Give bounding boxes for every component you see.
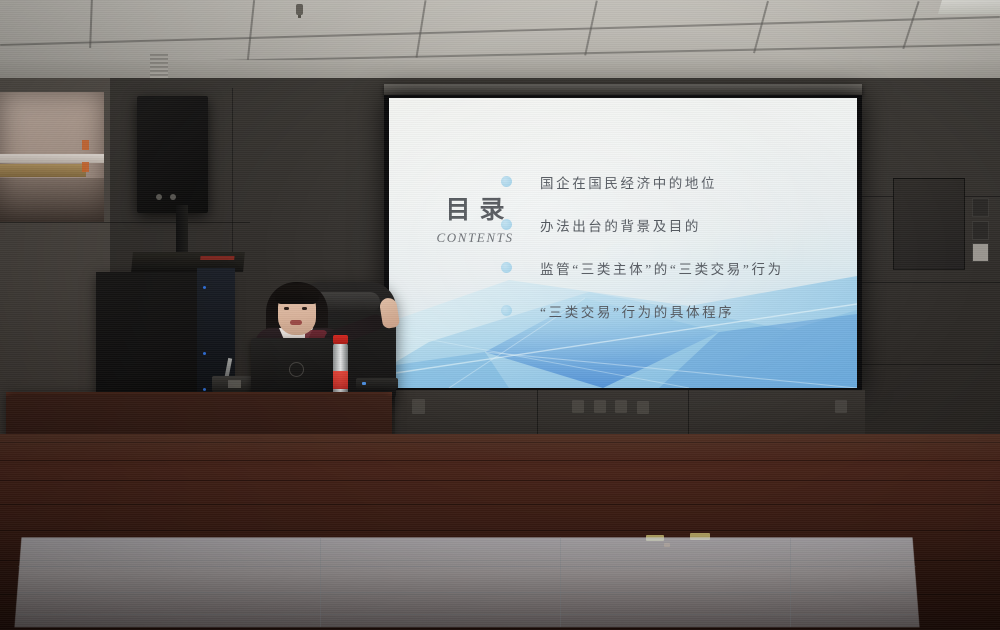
wall-seam [862, 364, 1000, 365]
wall-switch[interactable] [972, 221, 989, 240]
eye [284, 307, 289, 310]
list-item: “三类交易”行为的具体程序 [501, 289, 851, 332]
wall-outlet[interactable] [615, 400, 627, 413]
status-led [203, 352, 206, 355]
bullet-dot-icon [501, 262, 512, 273]
ceiling-speaker [137, 96, 208, 213]
wall-seam [537, 390, 538, 434]
wall-outlet[interactable] [572, 400, 584, 413]
wall-seam [688, 390, 689, 434]
speaker-port-icon [156, 194, 162, 200]
power-led [362, 382, 366, 385]
speaker-mount [176, 205, 188, 253]
status-led [203, 286, 206, 289]
wall-outlet[interactable] [835, 400, 847, 413]
list-item: 监管“三类主体”的“三类交易”行为 [501, 246, 851, 289]
mixer-strip [200, 256, 234, 260]
bottle-label [333, 371, 348, 389]
hair-fringe [275, 284, 319, 304]
wall-panel-left [0, 92, 104, 222]
bullet-dot-icon [501, 305, 512, 316]
wall-outlet[interactable] [594, 400, 606, 413]
bottle-cap [333, 335, 348, 344]
wall-switch[interactable] [972, 243, 989, 262]
laptop-logo-icon [289, 362, 304, 377]
list-item: 办法出台的背景及目的 [501, 203, 851, 246]
wall-switch[interactable] [972, 198, 989, 217]
notice-tag [82, 140, 89, 150]
wall-outlet[interactable] [412, 399, 425, 414]
speaker-port-icon [170, 194, 176, 200]
list-item-label: “三类交易”行为的具体程序 [540, 301, 734, 321]
slide-contents-list: 国企在国民经济中的地位 办法出台的背景及目的 监管“三类主体”的“三类交易”行为… [501, 160, 851, 332]
right-wall-panel [893, 178, 965, 270]
wall-outlet[interactable] [637, 401, 649, 414]
water-bottle [333, 343, 348, 396]
notice-tag [82, 162, 89, 172]
sprinkler-icon [296, 4, 303, 15]
laptop[interactable] [251, 338, 339, 394]
device-panel [228, 380, 241, 388]
list-item-label: 办法出台的背景及目的 [540, 215, 701, 235]
bullet-dot-icon [501, 219, 512, 230]
mouth [290, 320, 302, 325]
wall-seam [862, 282, 1000, 283]
wall-below-screen [395, 390, 865, 434]
air-vent-icon [150, 52, 168, 78]
floor-sheen [0, 434, 1000, 464]
list-item: 国企在国民经济中的地位 [501, 160, 851, 203]
list-item-label: 国企在国民经济中的地位 [540, 172, 717, 192]
status-led [203, 388, 206, 391]
eye [302, 307, 307, 310]
wall-seam [0, 222, 250, 223]
panel-shadow [0, 178, 104, 222]
presentation-room-photo: 目录 CONTENTS 国企在国民经济中的地位 办法出台的背景及目的 监管“三类… [0, 0, 1000, 630]
wood-board [0, 164, 86, 177]
bullet-dot-icon [501, 176, 512, 187]
desk-device [212, 376, 256, 392]
projection-screen[interactable]: 目录 CONTENTS 国企在国民经济中的地位 办法出台的背景及目的 监管“三类… [389, 98, 857, 388]
docking-device[interactable] [356, 378, 398, 389]
list-item-label: 监管“三类主体”的“三类交易”行为 [540, 258, 784, 278]
ceiling-light-fixture [938, 0, 1000, 14]
